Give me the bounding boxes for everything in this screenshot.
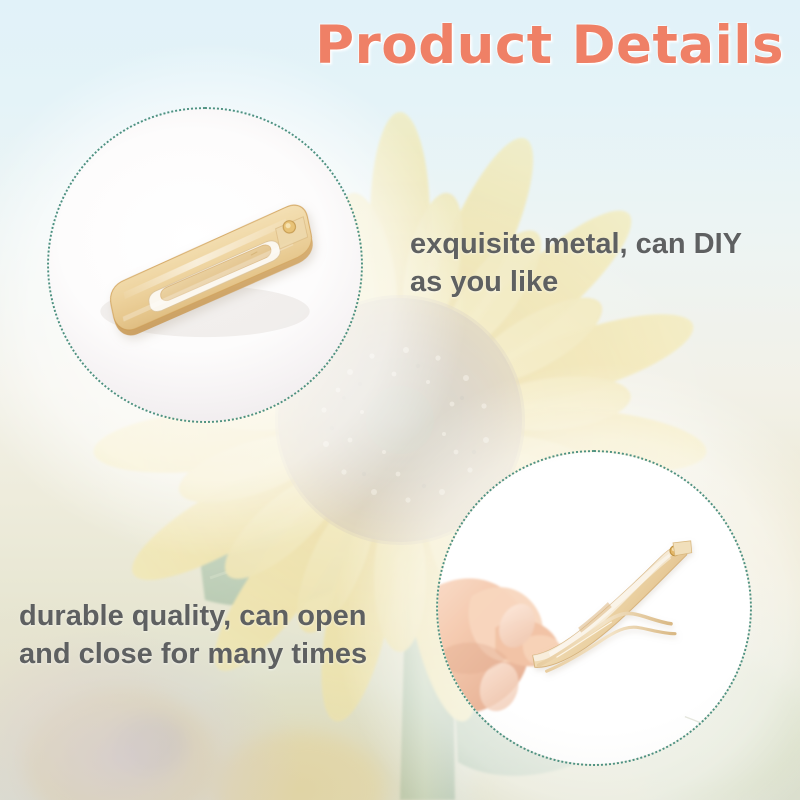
- product-details-banner: Product Details: [0, 0, 800, 800]
- feature-caption-bottom: durable quality, can open and close for …: [19, 598, 449, 673]
- feature-photo-circle-bottom[interactable]: [436, 450, 752, 766]
- dotted-circle-frame-icon: [436, 450, 752, 766]
- dotted-circle-frame-icon: [47, 107, 363, 423]
- feature-caption-top: exquisite metal, can DIY as you like: [410, 226, 800, 301]
- sunflower-leaf-left: [200, 528, 408, 607]
- page-title: Product Details: [0, 18, 792, 74]
- feature-photo-circle-top[interactable]: [47, 107, 363, 423]
